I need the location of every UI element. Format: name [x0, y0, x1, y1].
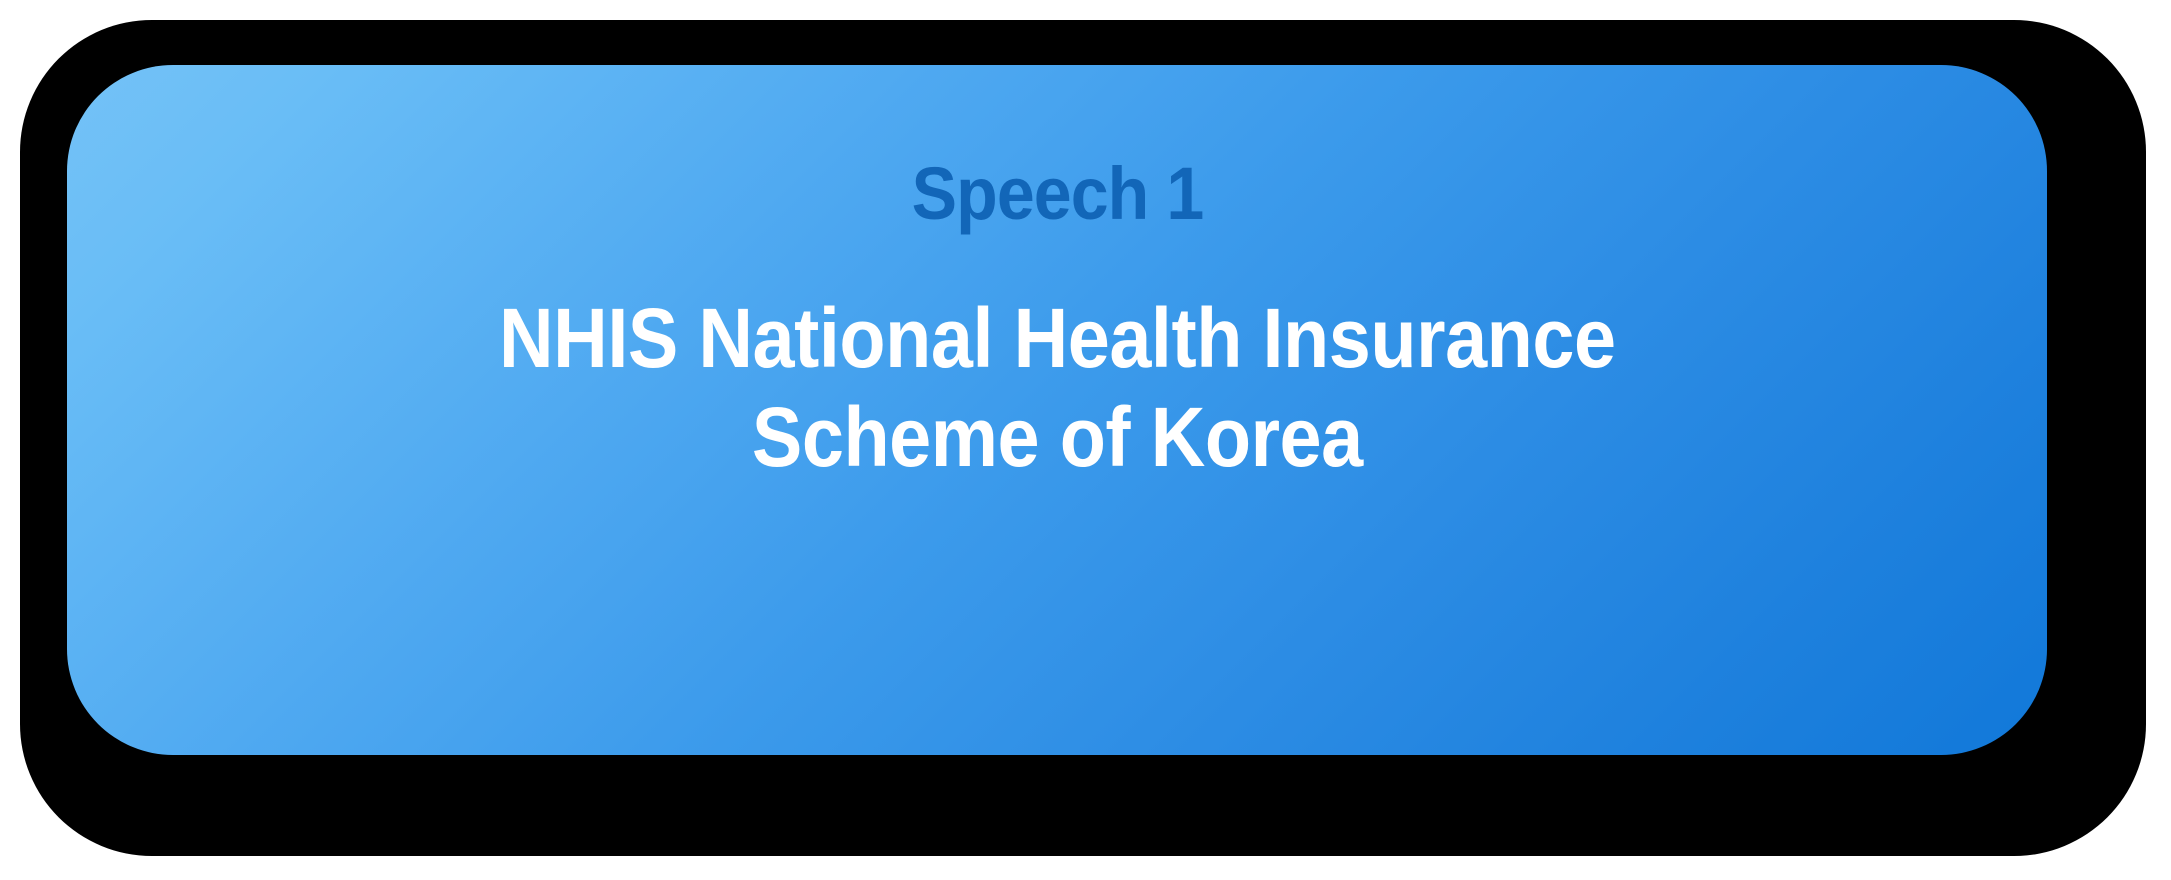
- speech-card[interactable]: Speech 1 NHIS National Health Insurance …: [67, 65, 2047, 755]
- speech-title-line-2: Scheme of Korea: [499, 388, 1616, 487]
- speech-number-label: Speech 1: [911, 157, 1203, 231]
- slide-canvas: Speech 1 NHIS National Health Insurance …: [0, 0, 2171, 880]
- speech-title: NHIS National Health Insurance Scheme of…: [499, 289, 1616, 487]
- speech-title-line-1: NHIS National Health Insurance: [499, 289, 1616, 388]
